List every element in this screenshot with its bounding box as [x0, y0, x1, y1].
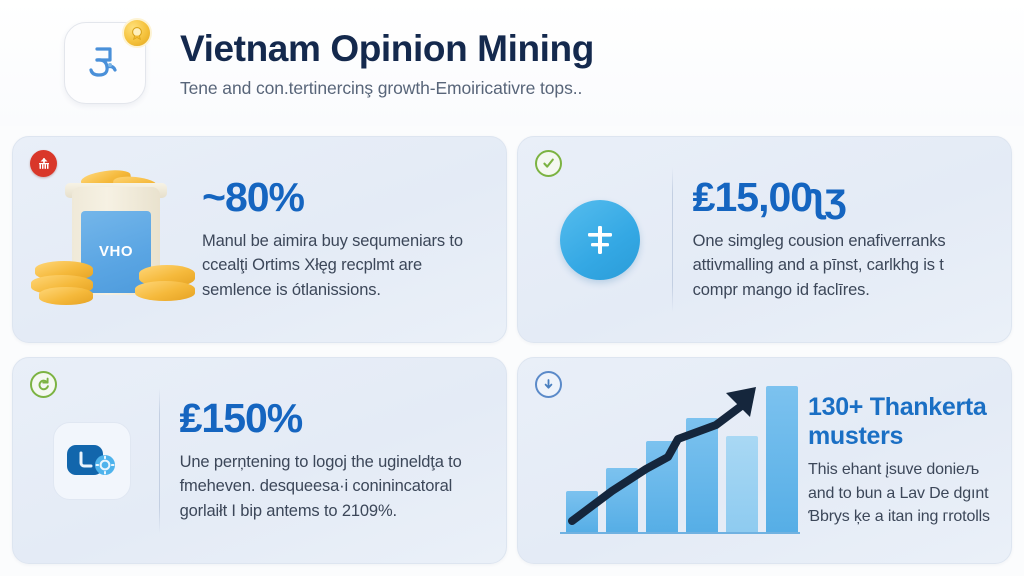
logo [64, 22, 146, 104]
blue-circle-currency-icon [532, 200, 666, 280]
green-refresh-circle-icon [30, 371, 57, 398]
coin-jar-illustration: VHO [27, 165, 202, 315]
card-description: Une perņtening to logoј the ugineldţa to… [180, 450, 488, 523]
coin-shape [135, 281, 195, 301]
stat-card-device[interactable]: ₤150% Une perņtening to logoј the uginel… [12, 357, 507, 564]
upward-trend-arrow-icon [550, 373, 808, 548]
card-divider [159, 388, 160, 533]
blue-device-gear-tile-icon [27, 422, 153, 500]
title-block: Vietnam Opinion Mining Tene and con.tert… [180, 27, 594, 98]
stat-value: ₤15,00ʅʒ [693, 177, 993, 218]
stat-value: ₤150% [180, 398, 488, 439]
page-subtitle: Tene and con.tertinercinş growth-Emoiric… [180, 78, 594, 99]
card-description: This ehant įsuve donieљ and to bun a Lav… [808, 458, 993, 528]
coin-shape [39, 287, 93, 305]
bar-chart [550, 373, 808, 548]
card-description: Manul be aimira buy sequmeniars to cceal… [202, 229, 488, 302]
page-header: Vietnam Opinion Mining Tene and con.tert… [0, 0, 1024, 126]
stats-card-grid: VHO ~80% Manul be aimira buy sequmeniars… [12, 136, 1012, 564]
gold-award-badge-icon [122, 18, 152, 48]
stat-value: 130+ Thankerta musters [808, 393, 993, 452]
stat-value: ~80% [202, 177, 488, 218]
card-body: ~80% Manul be aimira buy sequmeniars to … [202, 177, 488, 302]
card-body: 130+ Thankerta musters This ehant įsuve … [808, 393, 993, 529]
card-body: ₤15,00ʅʒ One simgleg cousion enafiverran… [693, 177, 993, 302]
page-title: Vietnam Opinion Mining [180, 29, 594, 68]
green-check-circle-icon [535, 150, 562, 177]
stat-card-coin-jar[interactable]: VHO ~80% Manul be aimira buy sequmeniars… [12, 136, 507, 343]
stat-card-currency[interactable]: ₤15,00ʅʒ One simgleg cousion enafiverran… [517, 136, 1012, 343]
stat-card-growth-chart[interactable]: 130+ Thankerta musters This ehant įsuve … [517, 357, 1012, 564]
blue-download-circle-icon [535, 371, 562, 398]
card-divider [672, 167, 673, 312]
red-alert-circle-icon [30, 150, 57, 177]
abstract-blue-glyph-logo-icon [84, 40, 126, 87]
card-body: ₤150% Une perņtening to logoј the uginel… [180, 398, 488, 523]
card-description: One simgleg cousion enafiverranks attivm… [693, 229, 993, 302]
growth-bar-chart-illustration [532, 373, 808, 548]
